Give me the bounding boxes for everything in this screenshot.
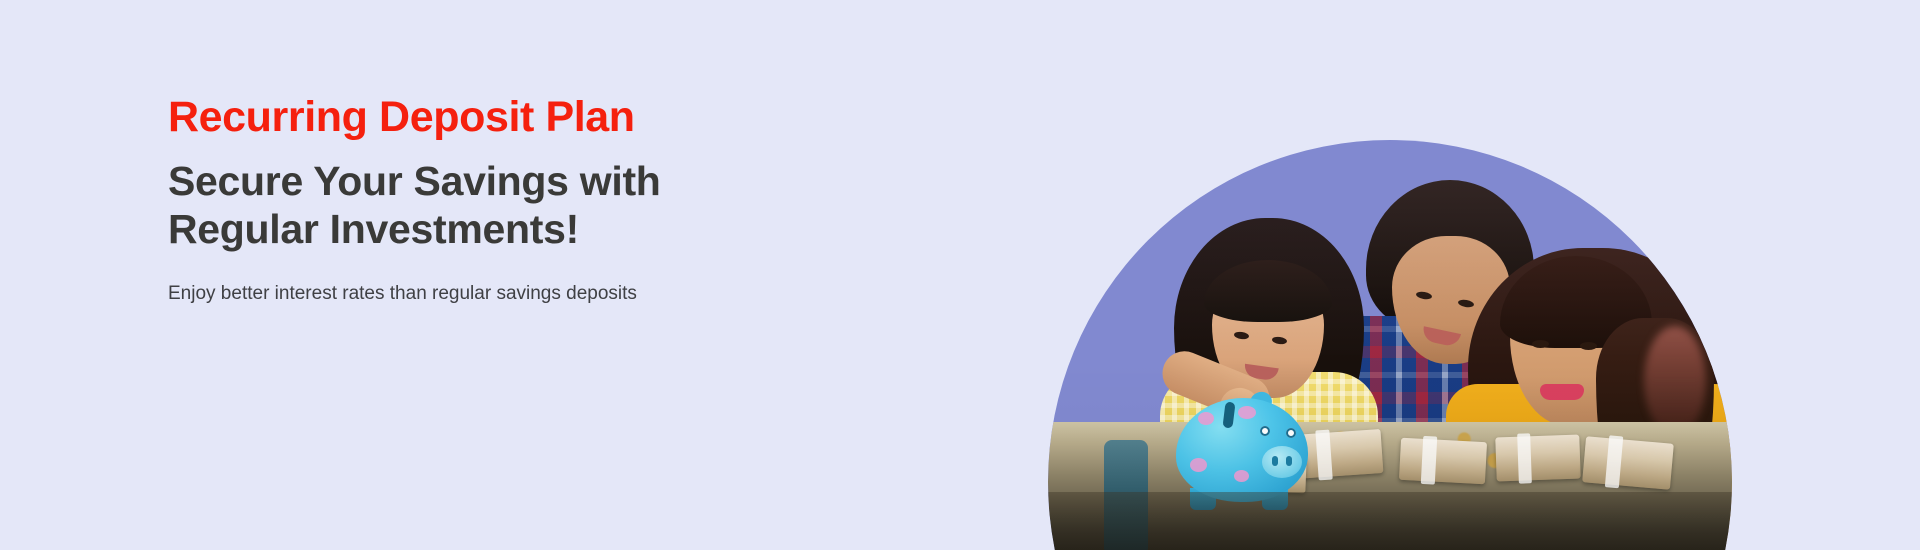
- banner-media-stage: [1048, 140, 1732, 550]
- banner-headline-line-1: Secure Your Savings with: [168, 158, 928, 206]
- piggy-bank-snout: [1262, 446, 1302, 478]
- mother-eye-right: [1580, 342, 1597, 350]
- mother-hair-highlight: [1644, 326, 1706, 436]
- recurring-deposit-banner: Recurring Deposit Plan Secure Your Savin…: [0, 0, 1920, 550]
- piggy-bank-spot: [1190, 458, 1207, 472]
- table-reflection: [1048, 492, 1732, 550]
- banner-headline: Secure Your Savings with Regular Investm…: [168, 158, 928, 254]
- piggy-bank-nostril: [1286, 456, 1292, 466]
- currency-note-bundle: [1582, 436, 1674, 489]
- currency-note-bundle: [1495, 435, 1580, 482]
- piggy-bank-eye: [1260, 426, 1270, 436]
- banner-eyebrow-title: Recurring Deposit Plan: [168, 96, 928, 140]
- piggy-bank-spot: [1234, 470, 1249, 482]
- currency-note-bundle: [1399, 438, 1487, 484]
- mother-eye-left: [1532, 340, 1549, 348]
- purple-circle-backdrop: [1048, 140, 1732, 550]
- piggy-bank-spot: [1238, 406, 1256, 419]
- banner-copy-block: Recurring Deposit Plan Secure Your Savin…: [168, 96, 928, 306]
- banner-headline-line-2: Regular Investments!: [168, 206, 928, 254]
- mother-lips: [1540, 384, 1584, 400]
- piggy-bank-nostril: [1272, 456, 1278, 466]
- family-saving-money-photo: [1048, 140, 1732, 550]
- banner-subcopy: Enjoy better interest rates than regular…: [168, 282, 928, 307]
- piggy-bank-eye: [1286, 428, 1296, 438]
- piggy-bank-spot: [1198, 412, 1214, 425]
